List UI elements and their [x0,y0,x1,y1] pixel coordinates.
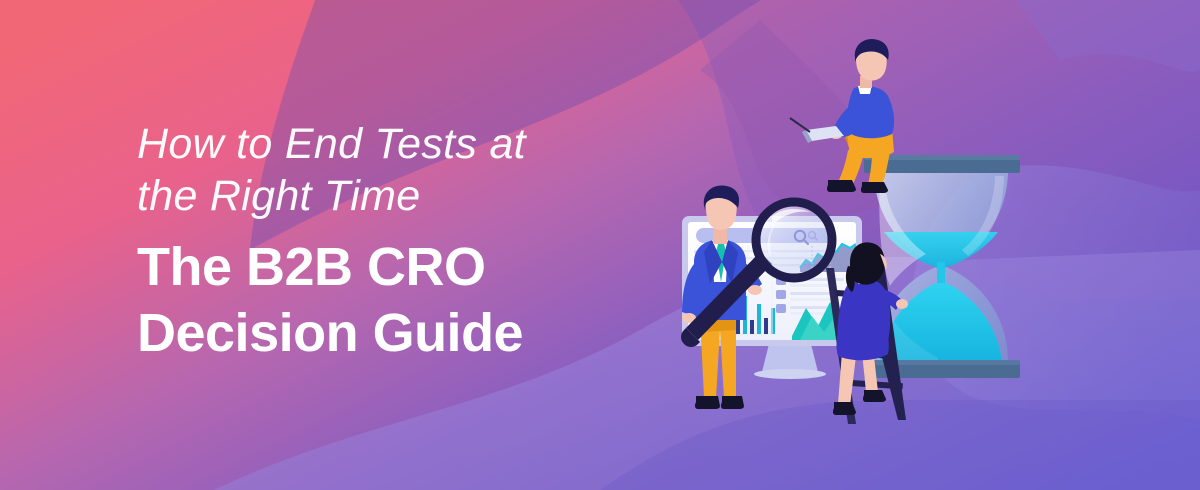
banner-kicker: How to End Tests at the Right Time [137,118,657,222]
banner-text-block: How to End Tests at the Right Time The B… [137,118,657,366]
man-with-laptop-on-hourglass [790,39,894,193]
hero-banner: How to End Tests at the Right Time The B… [0,0,1200,490]
banner-headline: The B2B CRO Decision Guide [137,234,657,366]
